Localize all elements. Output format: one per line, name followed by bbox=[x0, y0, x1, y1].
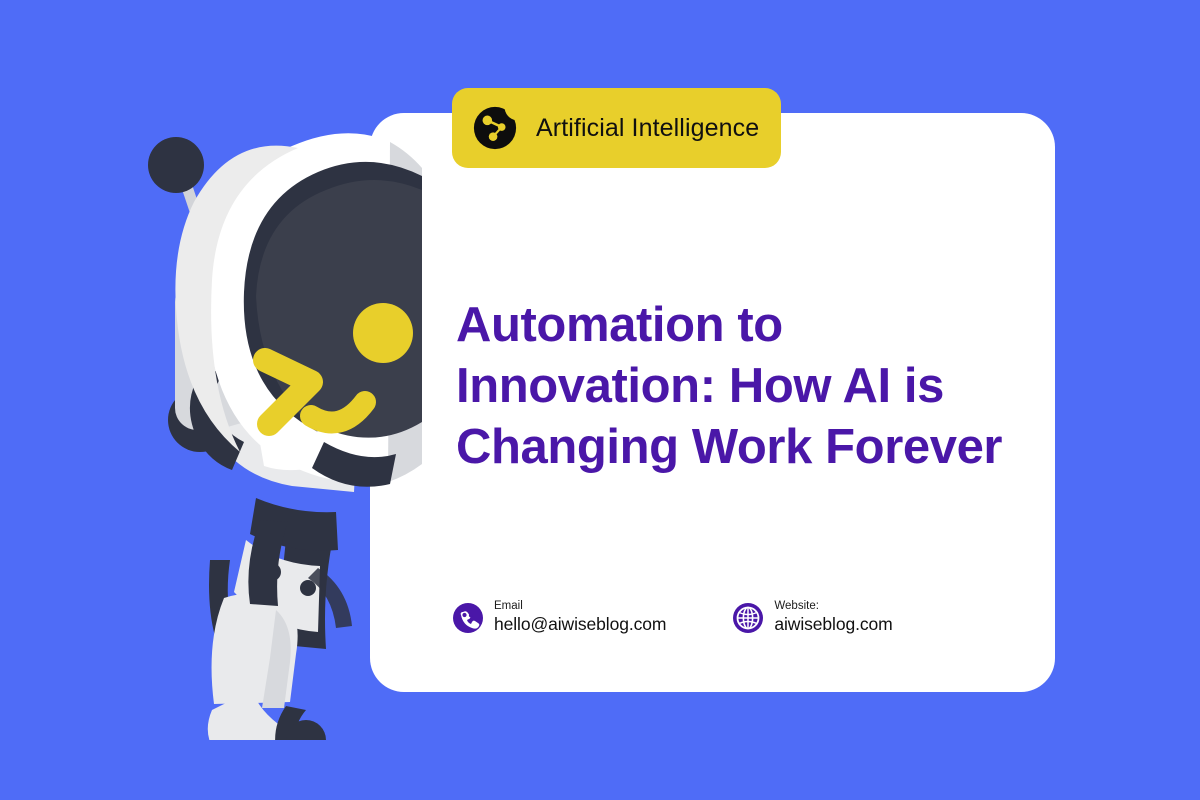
page-title: Automation to Innovation: How AI is Chan… bbox=[456, 295, 1016, 478]
contact-email-label: Email bbox=[494, 600, 666, 613]
robot-mascot-illustration bbox=[60, 120, 460, 740]
banner-canvas: Artificial Intelligence Automation to In… bbox=[0, 0, 1200, 800]
ai-network-logo-icon bbox=[472, 105, 518, 151]
category-badge[interactable]: Artificial Intelligence bbox=[452, 88, 781, 168]
contact-website[interactable]: Website: aiwiseblog.com bbox=[732, 600, 892, 635]
category-badge-label: Artificial Intelligence bbox=[536, 114, 759, 143]
contact-email-value: hello@aiwiseblog.com bbox=[494, 614, 666, 635]
contact-row: Email hello@aiwiseblog.com Website: aiwi… bbox=[452, 600, 893, 635]
globe-icon bbox=[732, 602, 764, 634]
contact-website-label: Website: bbox=[774, 600, 892, 613]
contact-email[interactable]: Email hello@aiwiseblog.com bbox=[452, 600, 666, 635]
contact-website-value: aiwiseblog.com bbox=[774, 614, 892, 635]
